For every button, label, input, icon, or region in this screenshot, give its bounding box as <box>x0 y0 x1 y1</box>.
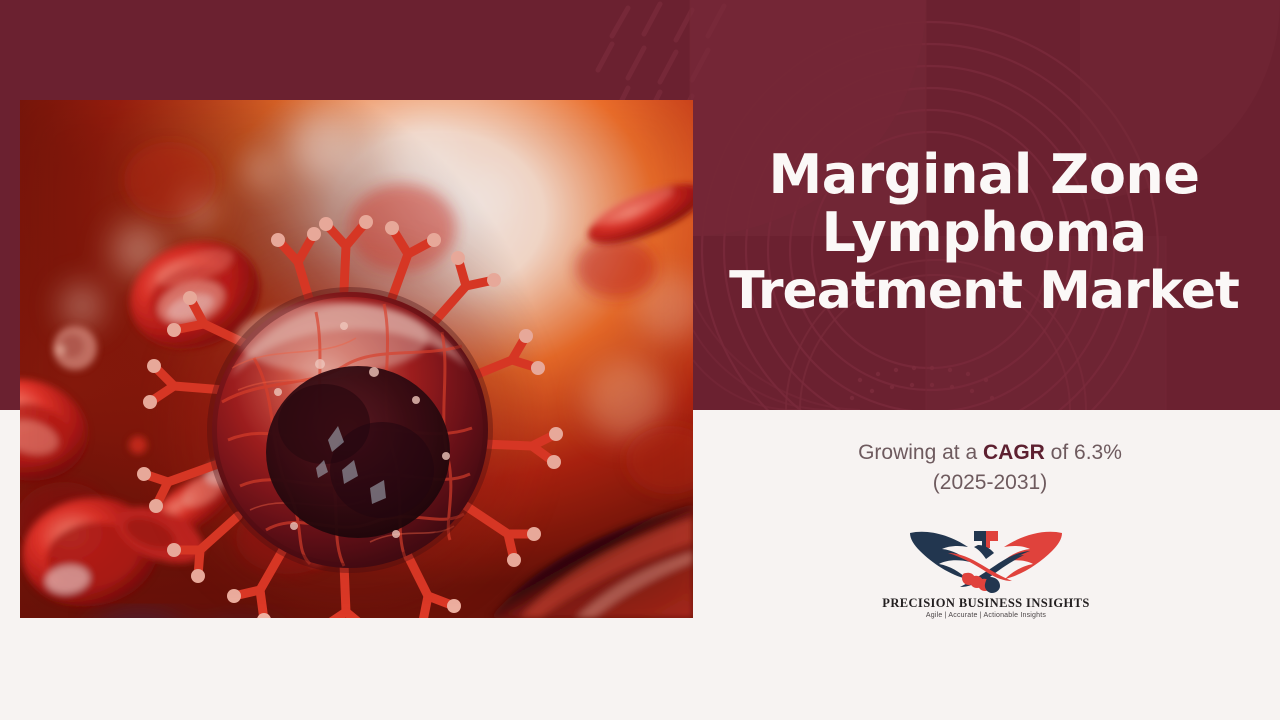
title-line-1: Marginal Zone <box>696 146 1272 204</box>
title-line-2: Lymphoma <box>696 204 1272 262</box>
page-title: Marginal Zone Lymphoma Treatment Market <box>696 146 1272 319</box>
subtitle-value: of 6.3% <box>1045 441 1122 464</box>
lymphoma-cell-microscopy-image <box>20 100 693 618</box>
cagr-subtitle: Growing at a CAGR of 6.3% (2025-2031) <box>710 438 1270 498</box>
subtitle-forecast-period: (2025-2031) <box>933 471 1047 494</box>
company-logo: PRECISION BUSINESS INSIGHTS Agile | Accu… <box>880 515 1092 619</box>
logo-company-name: PRECISION BUSINESS INSIGHTS <box>880 596 1092 611</box>
eagle-handshake-logo-icon <box>906 515 1066 593</box>
subtitle-cagr-emphasis: CAGR <box>983 441 1045 464</box>
lymphoma-cell-illustration <box>20 100 693 618</box>
subtitle-prefix: Growing at a <box>858 441 983 464</box>
presentation-slide: Marginal Zone Lymphoma Treatment Market … <box>0 0 1280 720</box>
logo-tagline: Agile | Accurate | Actionable Insights <box>880 612 1092 619</box>
title-line-3: Treatment Market <box>696 263 1272 319</box>
